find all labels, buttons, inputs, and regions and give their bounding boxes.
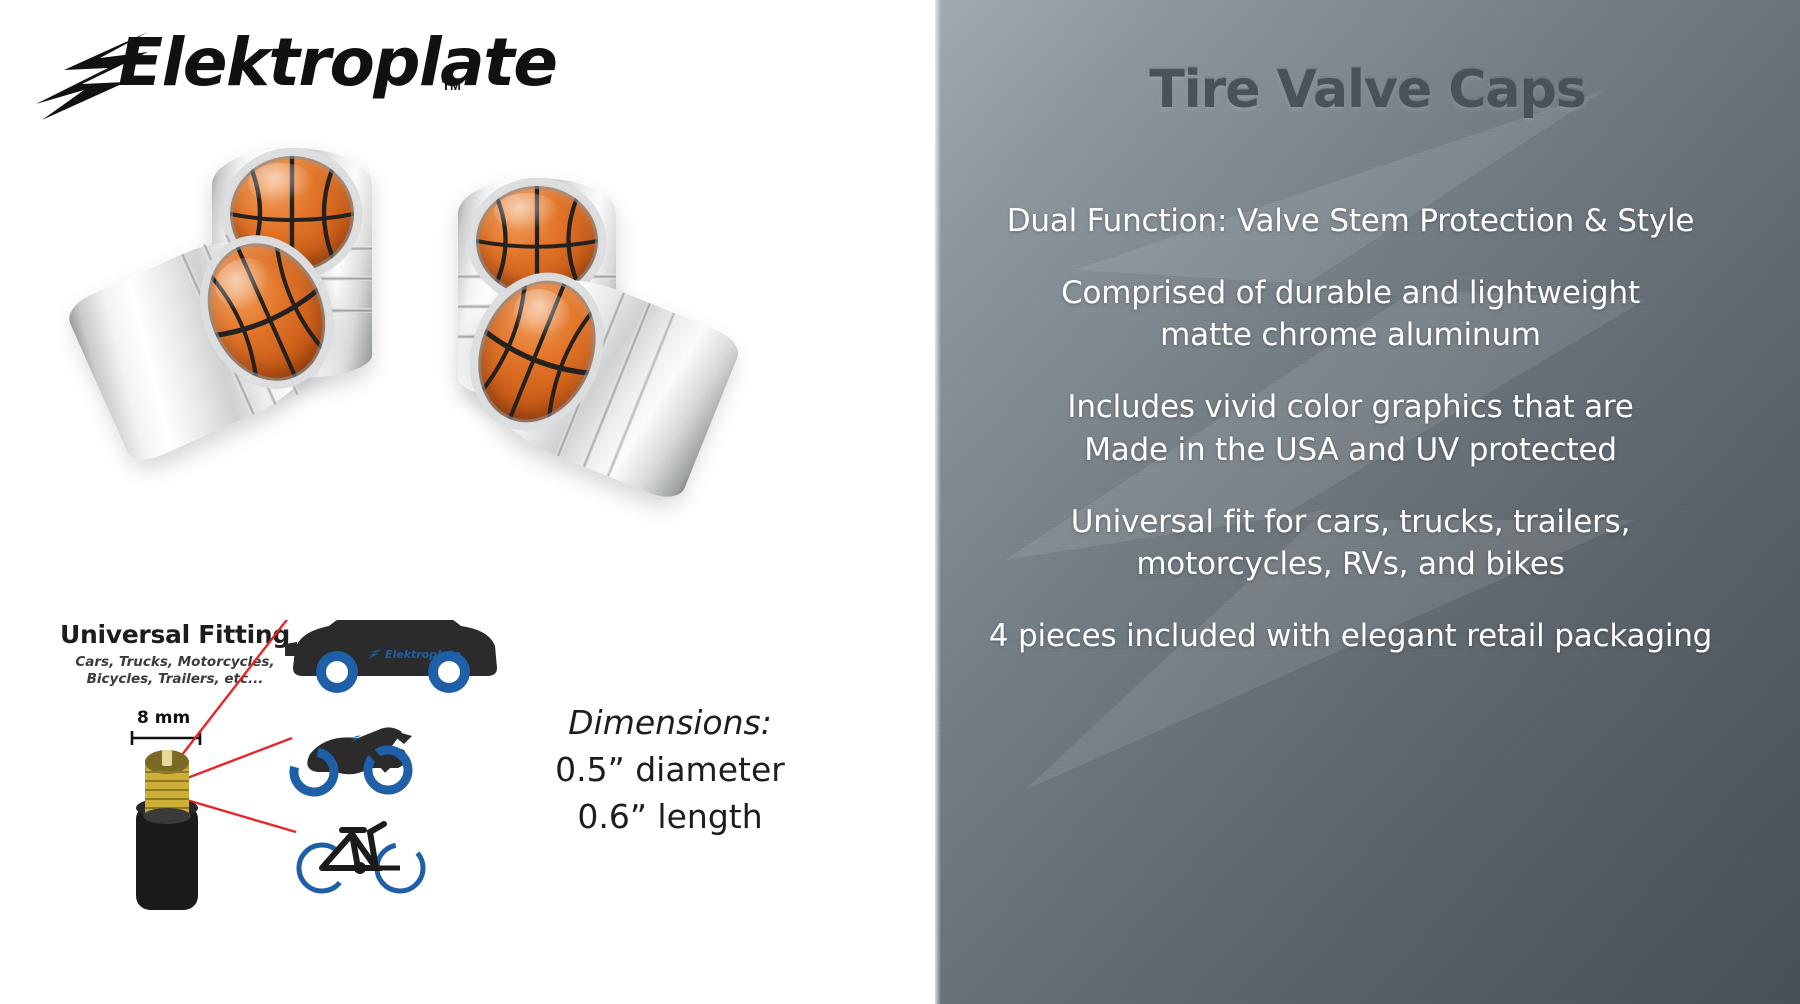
- car-badge-text: Elektroplate: [385, 648, 462, 661]
- feature-bullet-line: Made in the USA and UV protected: [935, 429, 1766, 471]
- brand-logo: Elektroplate TM: [30, 18, 490, 123]
- valve-stem-brass-thread: [143, 750, 191, 824]
- motorcycle-icon: [286, 727, 412, 799]
- dimensions-length: 0.6” length: [520, 794, 820, 841]
- dimensions-diameter: 0.5” diameter: [520, 747, 820, 794]
- feature-bullet: Universal fit for cars, trucks, trailers…: [935, 501, 1766, 585]
- car-icon: Elektroplate: [285, 620, 497, 693]
- feature-bullet-line: motorcycles, RVs, and bikes: [935, 543, 1766, 585]
- dimensions-title: Dimensions:: [520, 700, 820, 747]
- feature-bullet-line: Includes vivid color graphics that are: [935, 386, 1766, 428]
- feature-bullet-line: 4 pieces included with elegant retail pa…: [935, 615, 1766, 657]
- left-white-panel: Elektroplate TM: [0, 0, 935, 1004]
- feature-bullet: Includes vivid color graphics that areMa…: [935, 386, 1766, 470]
- feature-bullet-line: Universal fit for cars, trucks, trailers…: [935, 501, 1766, 543]
- dimensions-block: Dimensions: 0.5” diameter 0.6” length: [520, 700, 820, 841]
- bicycle-icon: [290, 824, 433, 900]
- product-photo-group: [70, 120, 830, 520]
- feature-bullet: 4 pieces included with elegant retail pa…: [935, 615, 1766, 657]
- pointer-lines-icon: [178, 620, 296, 832]
- feature-panel: Tire Valve Caps Dual Function: Valve Ste…: [935, 0, 1800, 1004]
- product-infographic: Elektroplate TM: [0, 0, 1800, 1004]
- page-title: Tire Valve Caps: [935, 60, 1800, 120]
- feature-bullet-line: matte chrome aluminum: [935, 314, 1766, 356]
- universal-fitting-diagram: Universal Fitting Cars, Trucks, Motorcyc…: [60, 620, 530, 950]
- brand-logo-text: Elektroplate: [118, 24, 557, 101]
- fitting-illustration: Elektroplate: [60, 620, 530, 950]
- feature-bullet-line: Comprised of durable and lightweight: [935, 272, 1766, 314]
- feature-bullet-list: Dual Function: Valve Stem Protection & S…: [935, 200, 1800, 687]
- feature-bullet-line: Dual Function: Valve Stem Protection & S…: [935, 200, 1766, 242]
- trademark-mark: TM: [442, 78, 461, 93]
- feature-bullet: Comprised of durable and lightweightmatt…: [935, 272, 1766, 356]
- feature-bullet: Dual Function: Valve Stem Protection & S…: [935, 200, 1766, 242]
